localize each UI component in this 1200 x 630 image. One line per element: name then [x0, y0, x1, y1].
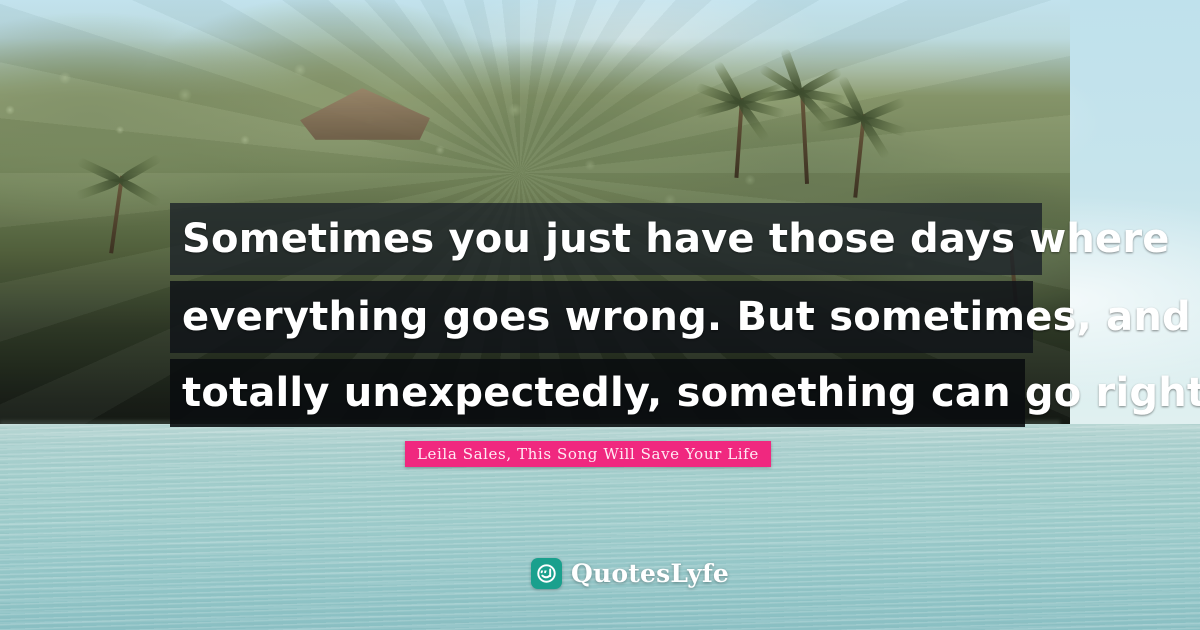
quote-text-block: Sometimes you just have those days where…	[0, 0, 1200, 630]
quote-line-1: Sometimes you just have those days where	[170, 203, 1042, 275]
quote-attribution: Leila Sales, This Song Will Save Your Li…	[405, 441, 771, 467]
quotes-smiley-icon	[531, 558, 562, 589]
quoteslyfe-logo[interactable]: QuotesLyfe	[531, 558, 729, 589]
quote-line-2: everything goes wrong. But sometimes, an…	[170, 281, 1033, 353]
quoteslyfe-wordmark: QuotesLyfe	[571, 559, 729, 588]
quote-card: Sometimes you just have those days where…	[0, 0, 1200, 630]
quote-line-3: totally unexpectedly, something can go r…	[170, 359, 1025, 427]
